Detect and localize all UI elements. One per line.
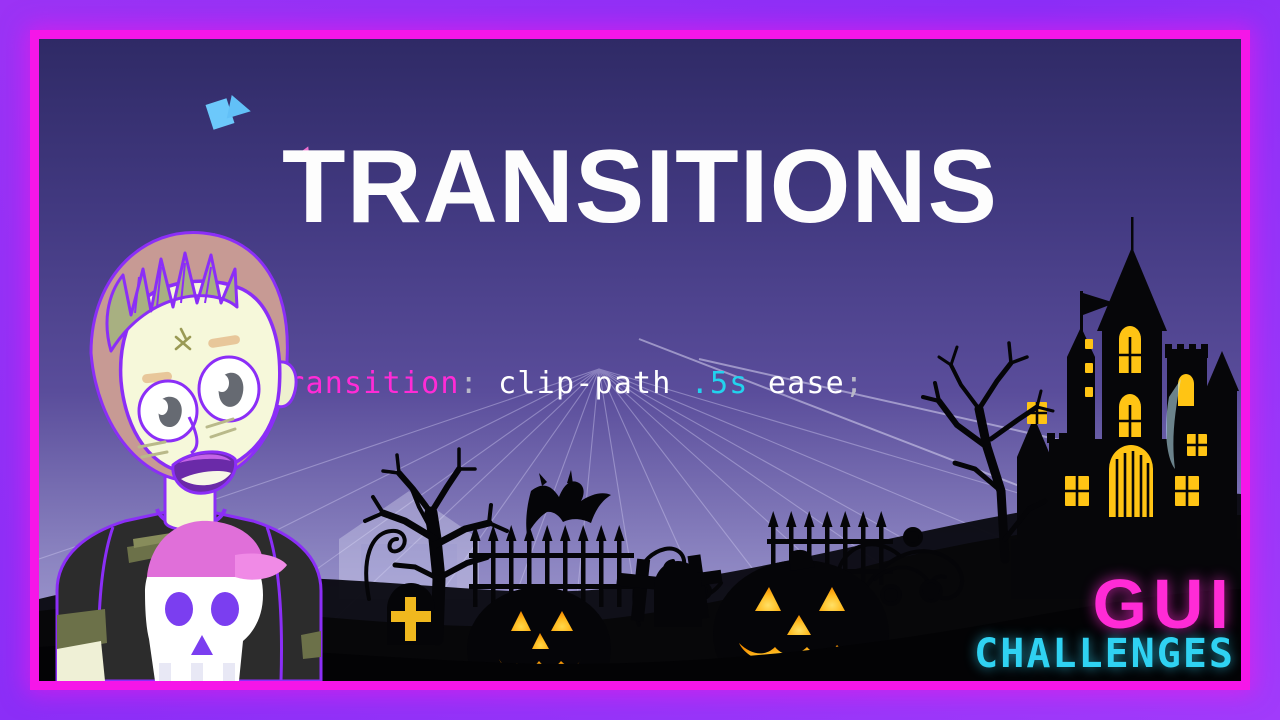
bat [526, 470, 611, 535]
logo-line-challenges: CHALLENGES [974, 636, 1235, 673]
gravestone-yellow-cross [387, 583, 435, 645]
gui-challenges-logo: GUI CHALLENGES [974, 572, 1235, 673]
neon-frame-border: TRANSITIONS transition: clip-path .5s ea… [30, 30, 1250, 690]
logo-line-gui: GUI [974, 572, 1235, 636]
avatar [39, 211, 359, 681]
avatar-head [91, 232, 296, 493]
scene-background: TRANSITIONS transition: clip-path .5s ea… [39, 39, 1241, 681]
thumbnail-canvas: TRANSITIONS transition: clip-path .5s ea… [0, 0, 1280, 720]
